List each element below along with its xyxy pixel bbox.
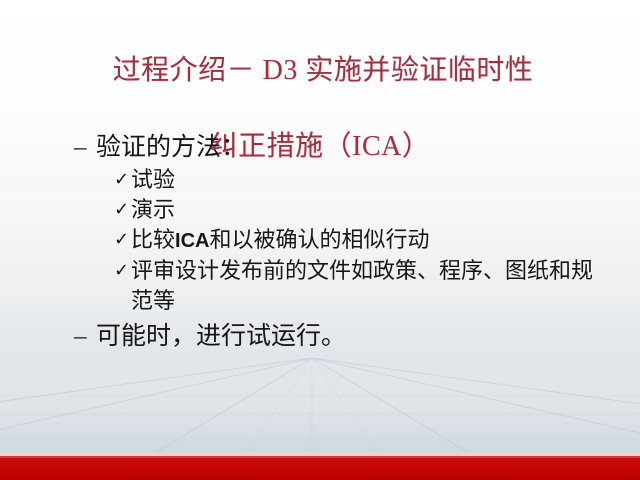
check-icon: ✓ — [114, 165, 130, 195]
bullet-label-1: 验证的方法： — [96, 131, 604, 164]
slide-body: – 验证的方法： ✓ 试验 ✓ 演示 ✓ 比较ICA和以被确认的相似行动 ✓ 评… — [74, 131, 604, 354]
list-item: ✓ 试验 — [114, 165, 604, 195]
title-line-1: 过程介绍－ D3 实施并验证临时性 — [0, 52, 640, 90]
checklist-label-prefix: 比较 — [131, 227, 175, 252]
check-icon: ✓ — [114, 195, 130, 225]
checklist-label-acronym: ICA — [175, 230, 209, 252]
checklist-label: 比较ICA和以被确认的相似行动 — [130, 225, 604, 256]
check-icon: ✓ — [114, 225, 130, 255]
checklist-label-suffix: 和以被确认的相似行动 — [209, 227, 429, 252]
list-item: ✓ 评审设计发布前的文件如政策、程序、图纸和规范等 — [114, 256, 604, 316]
bullet-dash-icon: – — [74, 131, 96, 164]
slide-canvas: 过程介绍－ D3 实施并验证临时性 纠正措施（ICA） – 验证的方法： ✓ 试… — [0, 0, 640, 480]
checklist-label: 试验 — [130, 165, 604, 195]
checklist-label: 演示 — [130, 195, 604, 225]
footer-bar — [0, 456, 640, 480]
perspective-floor-graphic — [0, 356, 640, 456]
list-item: ✓ 比较ICA和以被确认的相似行动 — [114, 225, 604, 256]
bullet-label-2: 可能时，进行试运行。 — [96, 320, 604, 353]
bullet-item-1: – 验证的方法： — [74, 131, 604, 164]
list-item: ✓ 演示 — [114, 195, 604, 225]
checklist-label: 评审设计发布前的文件如政策、程序、图纸和规范等 — [130, 256, 604, 316]
check-icon: ✓ — [114, 256, 130, 286]
checklist: ✓ 试验 ✓ 演示 ✓ 比较ICA和以被确认的相似行动 ✓ 评审设计发布前的文件… — [114, 165, 604, 316]
footer-bar-highlight — [0, 456, 640, 458]
floor-grid-svg — [0, 356, 640, 456]
bullet-dash-icon: – — [74, 320, 96, 353]
bullet-item-2: – 可能时，进行试运行。 — [74, 320, 604, 353]
